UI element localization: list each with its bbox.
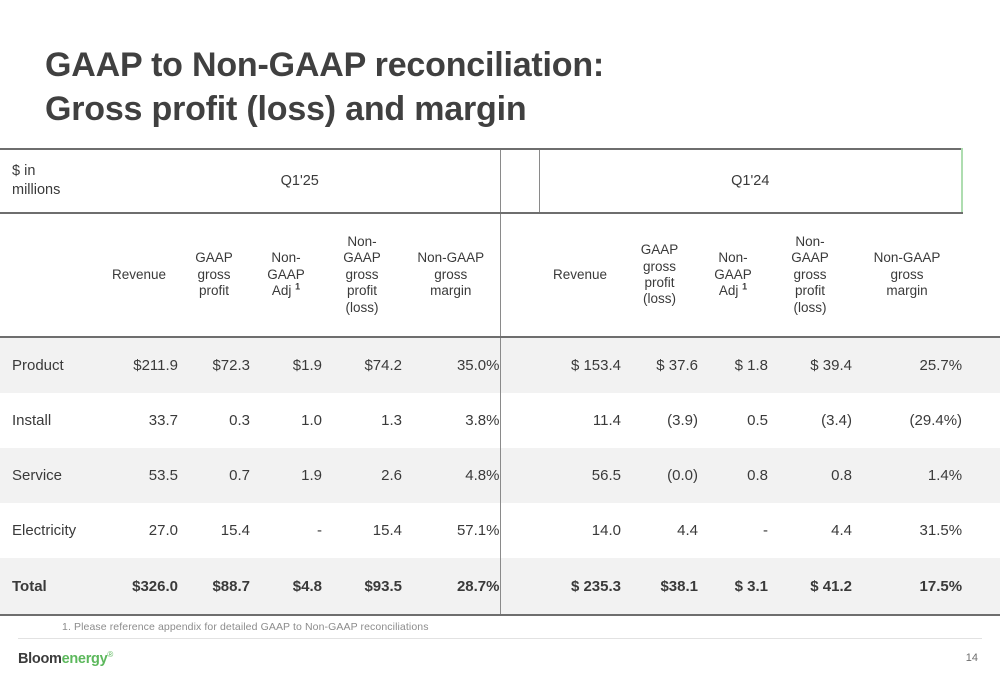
units-line-1: $ in [12, 162, 100, 181]
cell-service-left-gaap-gross-profit: 0.7 [178, 448, 250, 503]
cell-service-left-non-gaap-gross-profit: 2.6 [322, 448, 402, 503]
footnote-text: 1. Please reference appendix for detaile… [62, 621, 429, 633]
cell-install-right-revenue: 11.4 [539, 393, 621, 448]
cell-gap-install [500, 393, 539, 448]
title-line-1: GAAP to Non-GAAP reconciliation: [45, 44, 945, 88]
cell-total-left-gaap-gross-profit: $88.7 [178, 558, 250, 615]
cell-total-right-non-gaap-adj: $ 3.1 [698, 558, 768, 615]
bloom-energy-logo: Bloomenergy® [18, 650, 113, 667]
cell-total-right-revenue: $ 235.3 [539, 558, 621, 615]
cell-service-left-non-gaap-adj: 1.9 [250, 448, 322, 503]
cell-product-right-revenue: $ 153.4 [539, 337, 621, 393]
cell-install-right-gaap-gross-profit: (3.9) [621, 393, 698, 448]
cell-product-right-gaap-gross-profit: $ 37.6 [621, 337, 698, 393]
table-row: Product $211.9 $72.3 $1.9 $74.2 35.0% $ … [0, 337, 1000, 393]
period-header-q1-25: Q1'25 [100, 149, 500, 213]
cell-gap-electricity [500, 503, 539, 558]
cell-install-right-non-gaap-gross-profit: (3.4) [768, 393, 852, 448]
cell-install-left-non-gaap-gross-profit: 1.3 [322, 393, 402, 448]
footnote-marker-left-adj: 1 [295, 282, 300, 292]
logo-bloom-text: Bloom [18, 651, 62, 667]
cell-total-pad [962, 558, 1000, 615]
units-label: $ in millions [0, 149, 100, 213]
cell-install-right-non-gaap-adj: 0.5 [698, 393, 768, 448]
cell-total-left-non-gaap-gross-profit: $93.5 [322, 558, 402, 615]
cell-electricity-left-non-gaap-adj: - [250, 503, 322, 558]
reconciliation-table-wrapper: $ in millions Q1'25 Q1'24 Revenue GAAP g… [0, 148, 1000, 616]
cell-total-left-non-gaap-adj: $4.8 [250, 558, 322, 615]
footnote-marker-right-adj: 1 [742, 282, 747, 292]
row-label-electricity: Electricity [0, 503, 100, 558]
cell-install-right-non-gaap-gross-margin: (29.4%) [852, 393, 962, 448]
cell-electricity-right-non-gaap-gross-margin: 31.5% [852, 503, 962, 558]
logo-energy-text: energy [62, 651, 108, 667]
cell-service-right-gaap-gross-profit: (0.0) [621, 448, 698, 503]
cell-gap-total [500, 558, 539, 615]
page-number: 14 [966, 652, 978, 664]
cell-product-left-non-gaap-adj: $1.9 [250, 337, 322, 393]
cell-electricity-right-non-gaap-adj: - [698, 503, 768, 558]
column-header-left-revenue: Revenue [100, 213, 178, 337]
cell-electricity-right-revenue: 14.0 [539, 503, 621, 558]
logo-trademark-icon: ® [107, 650, 113, 659]
title-line-2: Gross profit (loss) and margin [45, 88, 945, 132]
column-header-right-pad [962, 213, 1000, 337]
cell-electricity-right-gaap-gross-profit: 4.4 [621, 503, 698, 558]
row-label-total: Total [0, 558, 100, 615]
cell-service-right-non-gaap-gross-margin: 1.4% [852, 448, 962, 503]
cell-service-left-revenue: 53.5 [100, 448, 178, 503]
table-row: Install 33.7 0.3 1.0 1.3 3.8% 11.4 (3.9)… [0, 393, 1000, 448]
table-row: Electricity 27.0 15.4 - 15.4 57.1% 14.0 … [0, 503, 1000, 558]
column-header-left-non-gaap-gross-margin: Non-GAAP gross margin [402, 213, 500, 337]
cell-service-pad [962, 448, 1000, 503]
footer-divider [18, 638, 982, 639]
column-gap-spacer-header [500, 213, 539, 337]
cell-service-left-non-gaap-gross-margin: 4.8% [402, 448, 500, 503]
cell-total-right-gaap-gross-profit: $38.1 [621, 558, 698, 615]
cell-product-left-non-gaap-gross-profit: $74.2 [322, 337, 402, 393]
cell-gap-service [500, 448, 539, 503]
cell-total-right-non-gaap-gross-profit: $ 41.2 [768, 558, 852, 615]
column-header-right-revenue: Revenue [539, 213, 621, 337]
column-header-row: Revenue GAAP gross profit Non- GAAP Adj … [0, 213, 1000, 337]
column-header-right-non-gaap-gross-profit-loss: Non- GAAP gross profit (loss) [768, 213, 852, 337]
row-label-install: Install [0, 393, 100, 448]
reconciliation-table: $ in millions Q1'25 Q1'24 Revenue GAAP g… [0, 148, 1000, 616]
cell-product-left-revenue: $211.9 [100, 337, 178, 393]
cell-electricity-left-gaap-gross-profit: 15.4 [178, 503, 250, 558]
column-header-right-non-gaap-gross-margin: Non-GAAP gross margin [852, 213, 962, 337]
cell-electricity-pad [962, 503, 1000, 558]
column-header-left-non-gaap-gross-profit-loss: Non- GAAP gross profit (loss) [322, 213, 402, 337]
column-header-left-gaap-gross-profit: GAAP gross profit [178, 213, 250, 337]
cell-service-right-revenue: 56.5 [539, 448, 621, 503]
cell-product-left-non-gaap-gross-margin: 35.0% [402, 337, 500, 393]
page-title: GAAP to Non-GAAP reconciliation: Gross p… [45, 44, 945, 131]
cell-electricity-right-non-gaap-gross-profit: 4.4 [768, 503, 852, 558]
table-row-total: Total $326.0 $88.7 $4.8 $93.5 28.7% $ 23… [0, 558, 1000, 615]
column-header-right-gaap-gross-profit-loss: GAAP gross profit (loss) [621, 213, 698, 337]
cell-service-right-non-gaap-gross-profit: 0.8 [768, 448, 852, 503]
cell-electricity-left-non-gaap-gross-profit: 15.4 [322, 503, 402, 558]
period-header-row: $ in millions Q1'25 Q1'24 [0, 149, 1000, 213]
cell-install-left-gaap-gross-profit: 0.3 [178, 393, 250, 448]
cell-product-right-non-gaap-adj: $ 1.8 [698, 337, 768, 393]
cell-install-pad [962, 393, 1000, 448]
cell-total-right-non-gaap-gross-margin: 17.5% [852, 558, 962, 615]
cell-install-left-revenue: 33.7 [100, 393, 178, 448]
period-header-q1-24: Q1'24 [539, 149, 962, 213]
cell-total-left-non-gaap-gross-margin: 28.7% [402, 558, 500, 615]
cell-service-right-non-gaap-adj: 0.8 [698, 448, 768, 503]
cell-product-pad [962, 337, 1000, 393]
units-line-2: millions [12, 181, 100, 200]
column-header-blank [0, 213, 100, 337]
cell-install-left-non-gaap-gross-margin: 3.8% [402, 393, 500, 448]
row-label-product: Product [0, 337, 100, 393]
row-label-service: Service [0, 448, 100, 503]
cell-electricity-left-non-gaap-gross-margin: 57.1% [402, 503, 500, 558]
cell-gap-product [500, 337, 539, 393]
cell-product-left-gaap-gross-profit: $72.3 [178, 337, 250, 393]
cell-install-left-non-gaap-adj: 1.0 [250, 393, 322, 448]
cell-product-right-non-gaap-gross-margin: 25.7% [852, 337, 962, 393]
cell-total-left-revenue: $326.0 [100, 558, 178, 615]
table-row: Service 53.5 0.7 1.9 2.6 4.8% 56.5 (0.0)… [0, 448, 1000, 503]
column-header-left-non-gaap-adj: Non- GAAP Adj 1 [250, 213, 322, 337]
cell-product-right-non-gaap-gross-profit: $ 39.4 [768, 337, 852, 393]
cell-electricity-left-revenue: 27.0 [100, 503, 178, 558]
column-header-right-non-gaap-adj: Non- GAAP Adj 1 [698, 213, 768, 337]
column-gap-spacer [500, 149, 539, 213]
